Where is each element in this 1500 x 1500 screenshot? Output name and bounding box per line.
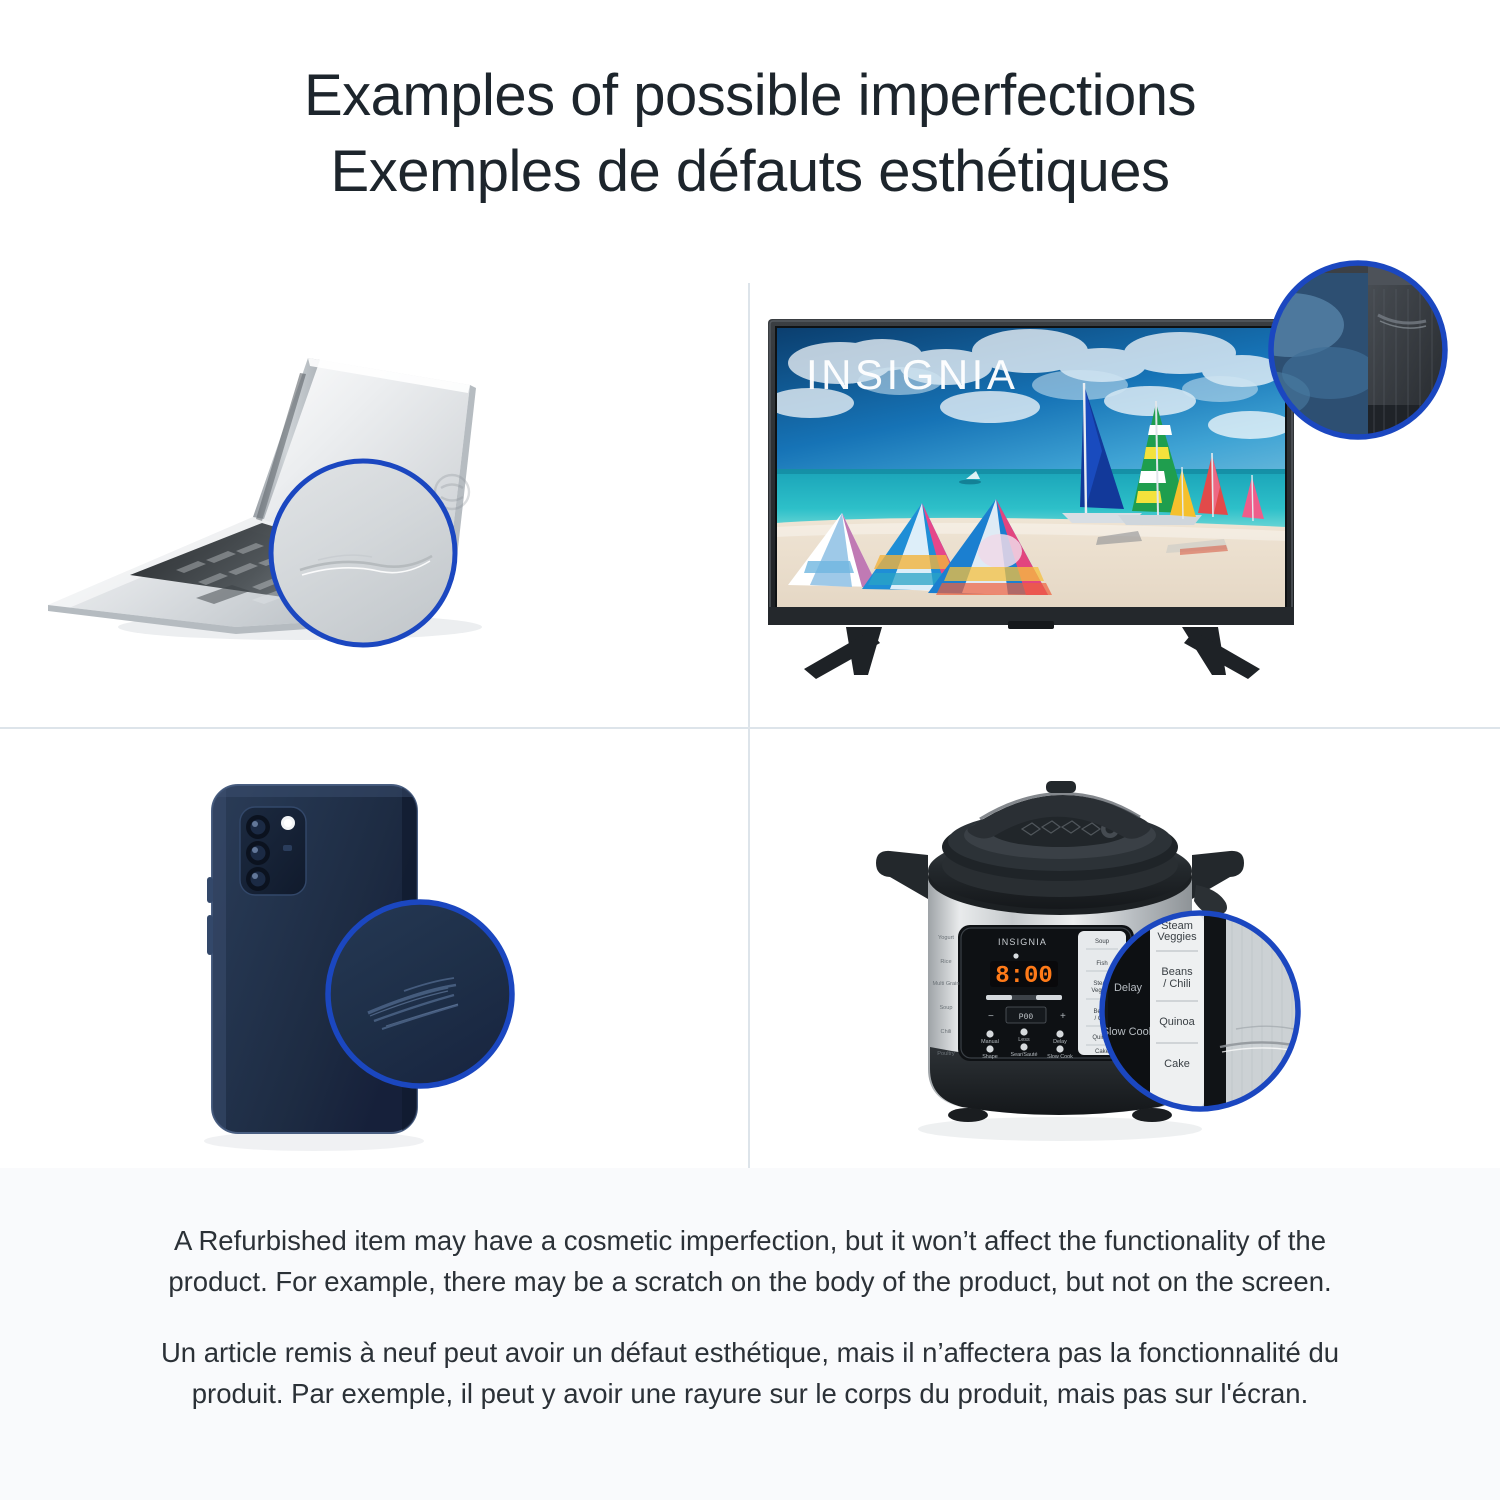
examples-grid: INSIGNIA [0,255,1500,1168]
page-title-en: Examples of possible imperfections [304,58,1196,134]
cooker-panel-brand: INSIGNIA [998,937,1047,947]
cell-smartphone [0,729,748,1168]
svg-text:Quinoa: Quinoa [1159,1016,1195,1028]
svg-text:Less: Less [1018,1037,1030,1043]
svg-text:P00: P00 [1019,1013,1034,1022]
cell-pressure-cooker: INSIGNIA 8:00 P00 − + [750,729,1500,1168]
smartphone-illustration [0,729,748,1168]
svg-text:Delay: Delay [1053,1039,1067,1045]
svg-text:Yogurt: Yogurt [938,935,954,941]
laptop-magnifier-circle [271,461,455,645]
page-header: Examples of possible imperfections Exemp… [0,0,1500,255]
svg-text:Fish: Fish [1096,961,1107,967]
footer-paragraph-en: A Refurbished item may have a cosmetic i… [160,1220,1340,1302]
svg-text:Poultry: Poultry [937,1051,955,1057]
svg-text:Shape: Shape [982,1054,998,1060]
svg-text:Beans: Beans [1161,966,1193,978]
svg-text:Soup: Soup [939,1005,952,1011]
footer-paragraph-fr: Un article remis à neuf peut avoir un dé… [160,1332,1340,1414]
svg-text:Chili: Chili [941,1029,952,1035]
cooker-led-display: 8:00 [995,963,1053,990]
svg-text:Multi Grain: Multi Grain [932,981,959,987]
svg-text:Slow Cook: Slow Cook [1047,1054,1073,1060]
pressure-cooker-magnifier-circle: Delay Slow Cook Steam Veggies Beans / Ch… [1102,913,1316,1109]
page-title-fr: Exemples de défauts esthétiques [331,134,1170,210]
cell-laptop [0,255,748,727]
svg-text:Sear/Sauté: Sear/Sauté [1011,1052,1038,1058]
pressure-cooker-illustration: INSIGNIA 8:00 P00 − + [750,729,1500,1168]
svg-text:−: − [988,1011,994,1022]
svg-text:Soup: Soup [1095,939,1110,945]
page-footer: A Refurbished item may have a cosmetic i… [0,1168,1500,1500]
tv-screen-brand-text: INSIGNIA [806,351,1018,398]
svg-text:/ Chili: / Chili [1163,978,1191,990]
svg-text:+: + [1060,1011,1066,1022]
smartphone-magnifier-circle [328,902,512,1086]
svg-text:Cake: Cake [1164,1058,1190,1070]
svg-text:Manual: Manual [981,1039,999,1045]
television-illustration: INSIGNIA [750,255,1500,727]
svg-text:Slow Cook: Slow Cook [1102,1026,1155,1038]
infographic-page: Examples of possible imperfections Exemp… [0,0,1500,1500]
svg-text:Delay: Delay [1114,982,1143,994]
svg-text:Rice: Rice [940,959,951,965]
svg-text:Veggies: Veggies [1157,931,1197,943]
cell-television: INSIGNIA [750,255,1500,727]
laptop-illustration [0,255,748,727]
